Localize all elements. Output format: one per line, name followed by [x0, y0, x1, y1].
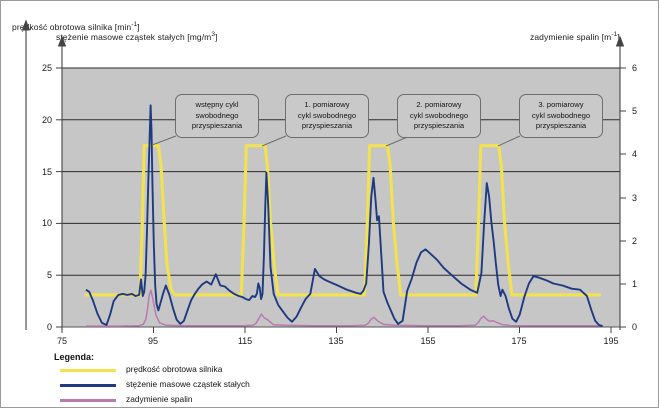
callout-preliminary-line3: przyspieszania: [178, 121, 256, 132]
plot-canvas: [0, 0, 660, 409]
bottom-tick-115: 115: [230, 336, 260, 346]
callout-measurement-2: 2. pomiarowy cykl swobodnego przyspiesza…: [397, 94, 481, 138]
bottom-tick-75: 75: [47, 336, 77, 346]
callout-measurement-2-line1: 2. pomiarowy: [400, 100, 478, 111]
bottom-tick-135: 135: [321, 336, 351, 346]
callout-measurement-2-line3: przyspieszania: [400, 121, 478, 132]
bottom-tick-95: 95: [138, 336, 168, 346]
left-tick-5: 5: [30, 270, 52, 280]
right-tick-2: 2: [632, 236, 654, 246]
right-tick-6: 6: [632, 63, 654, 73]
callout-preliminary: wstępny cykl swobodnego przyspieszania: [175, 94, 259, 138]
right-tick-0: 0: [632, 322, 654, 332]
callout-measurement-1-line3: przyspieszania: [288, 121, 366, 132]
callout-measurement-2-line2: cykl swobodnego: [400, 111, 478, 122]
left-tick-20: 20: [30, 115, 52, 125]
callout-preliminary-line1: wstępny cykl: [178, 100, 256, 111]
callout-measurement-1-line2: cykl swobodnego: [288, 111, 366, 122]
left-tick-15: 15: [30, 167, 52, 177]
bottom-tick-195: 195: [596, 336, 626, 346]
right-tick-4: 4: [632, 149, 654, 159]
callout-measurement-3-line1: 3. pomiarowy: [522, 100, 600, 111]
legend-label-pm-concentration: stężenie masowe cząstek stałych: [126, 379, 250, 389]
bottom-axis-ticks: [62, 327, 611, 333]
callout-measurement-3: 3. pomiarowy cykl swobodnego przyspiesza…: [519, 94, 603, 138]
legend-label-smoke-opacity: zadymienie spalin: [126, 394, 193, 404]
right-tick-3: 3: [632, 193, 654, 203]
left-tick-0: 0: [30, 322, 52, 332]
legend-swatch-engine-speed: [60, 369, 116, 372]
left-tick-10: 10: [30, 218, 52, 228]
legend-swatch-pm-concentration: [60, 384, 116, 387]
left-axis-ticks: [56, 68, 62, 327]
callout-measurement-1-line1: 1. pomiarowy: [288, 100, 366, 111]
callout-measurement-3-line3: przyspieszania: [522, 121, 600, 132]
bottom-tick-175: 175: [504, 336, 534, 346]
left-tick-25: 25: [30, 63, 52, 73]
right-tick-5: 5: [632, 106, 654, 116]
right-axis-ticks: [620, 68, 626, 327]
bottom-tick-155: 155: [413, 336, 443, 346]
legend-title: Legenda:: [54, 352, 94, 362]
legend-label-engine-speed: prędkość obrotowa silnika: [126, 364, 222, 374]
callout-measurement-3-line2: cykl swobodnego: [522, 111, 600, 122]
legend-swatch-smoke-opacity: [60, 399, 116, 402]
right-tick-1: 1: [632, 279, 654, 289]
callout-measurement-1: 1. pomiarowy cykl swobodnego przyspiesza…: [285, 94, 369, 138]
callout-preliminary-line2: swobodnego: [178, 111, 256, 122]
